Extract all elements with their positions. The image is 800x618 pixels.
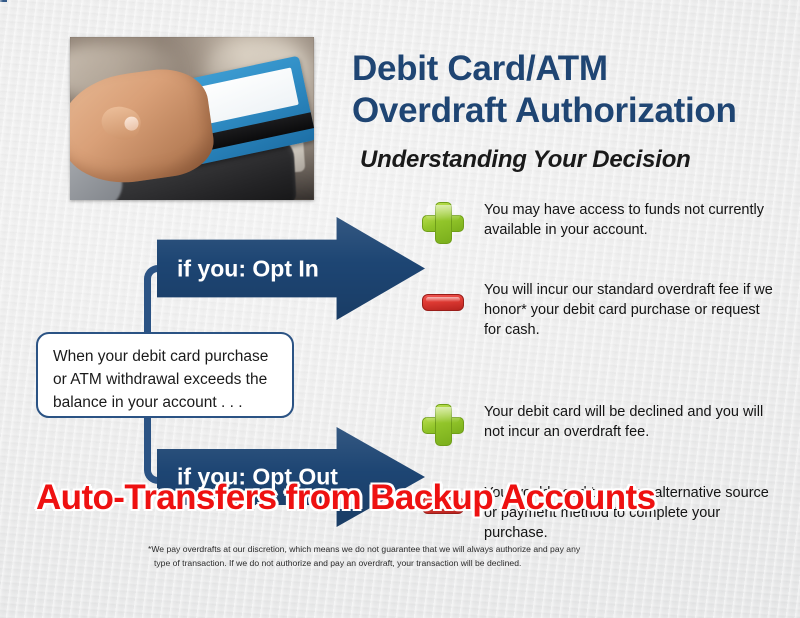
- plus-icon-vertical: [435, 404, 452, 446]
- footnote: *We pay overdrafts at our discretion, wh…: [148, 543, 668, 570]
- premise-box: When your debit card purchase or ATM wit…: [36, 332, 294, 418]
- minus-icon: [422, 294, 464, 311]
- overlay-headline: Auto-Transfers from Backup Accounts: [36, 478, 776, 518]
- connector-stub: [0, 0, 7, 2]
- plus-icon: [422, 202, 464, 244]
- plus-icon-vertical: [435, 202, 452, 244]
- footnote-line-2: type of transaction. If we do not author…: [148, 557, 668, 571]
- branch-label-opt-in: if you: Opt In: [177, 255, 319, 282]
- title-line-1: Debit Card/ATM: [352, 49, 608, 88]
- page-subtitle: Understanding Your Decision: [360, 146, 780, 174]
- debit-card-photo: [70, 37, 314, 200]
- footnote-line-1: *We pay overdrafts at our discretion, wh…: [148, 544, 580, 554]
- outcome-text: Your debit card will be declined and you…: [484, 402, 779, 442]
- title-line-2: Overdraft Authorization: [352, 90, 782, 132]
- outcome-text: You may have access to funds not current…: [484, 200, 779, 240]
- infographic-canvas: Debit Card/ATM Overdraft Authorization U…: [0, 0, 800, 618]
- outcome-text: You will incur our standard overdraft fe…: [484, 280, 779, 340]
- plus-icon: [422, 404, 464, 446]
- branch-arrow-opt-in[interactable]: if you: Opt In: [157, 217, 425, 320]
- page-title: Debit Card/ATM Overdraft Authorization: [352, 48, 782, 132]
